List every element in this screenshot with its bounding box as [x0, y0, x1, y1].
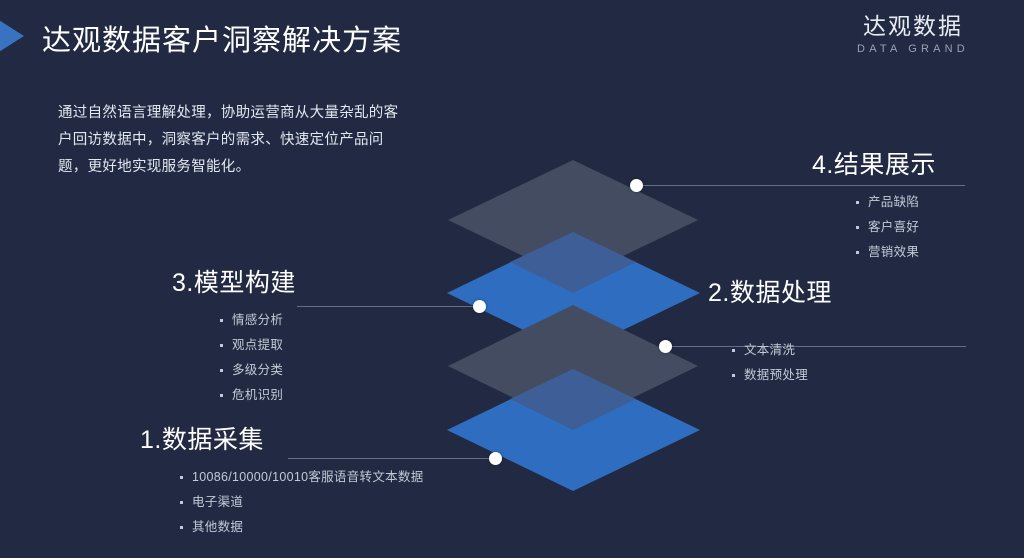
list-item: 电子渠道 — [180, 490, 424, 515]
list-item: 营销效果 — [856, 240, 936, 265]
connector-dot-step-2 — [659, 340, 672, 353]
list-item: 危机识别 — [220, 383, 296, 408]
diamond-layer-top-gray — [448, 160, 698, 280]
brand-name-cn: 达观数据 — [838, 14, 988, 39]
list-item: 客户喜好 — [856, 215, 936, 240]
step-bullet-list-4: 产品缺陷 客户喜好 营销效果 — [856, 190, 936, 265]
step-block-2[interactable]: 2.数据处理 文本清洗 数据预处理 — [708, 278, 832, 388]
step-title-2: 2.数据处理 — [708, 278, 832, 308]
diamond-overlap-shade-lower — [510, 369, 636, 430]
step-title-4: 4.结果展示 — [812, 150, 936, 180]
slide-canvas: 达观数据客户洞察解决方案 达观数据 DATA GRAND 通过自然语言理解处理，… — [0, 0, 1024, 558]
page-title: 达观数据客户洞察解决方案 — [42, 17, 402, 59]
diamond-overlap-shade-upper — [510, 232, 636, 293]
list-item: 10086/10000/10010客服语音转文本数据 — [180, 465, 424, 490]
diamond-layer-blue-upper — [447, 232, 700, 354]
step-title-1: 1.数据采集 — [140, 425, 424, 455]
step-block-3[interactable]: 3.模型构建 情感分析 观点提取 多级分类 危机识别 — [172, 268, 296, 408]
list-item: 产品缺陷 — [856, 190, 936, 215]
diamond-layer-blue-bottom — [447, 369, 700, 491]
list-item: 情感分析 — [220, 308, 296, 333]
connector-dot-step-3 — [473, 300, 486, 313]
list-item: 文本清洗 — [732, 338, 832, 363]
step-bullet-list-3: 情感分析 观点提取 多级分类 危机识别 — [220, 308, 296, 408]
connector-dot-step-1 — [489, 452, 502, 465]
list-item: 多级分类 — [220, 358, 296, 383]
intro-paragraph: 通过自然语言理解处理，协助运营商从大量杂乱的客户回访数据中，洞察客户的需求、快速… — [58, 100, 408, 181]
list-item: 观点提取 — [220, 333, 296, 358]
list-item: 其他数据 — [180, 515, 424, 540]
step-block-1[interactable]: 1.数据采集 10086/10000/10010客服语音转文本数据 电子渠道 其… — [140, 425, 424, 540]
connector-line-step-3 — [297, 306, 481, 307]
step-block-4[interactable]: 4.结果展示 产品缺陷 客户喜好 营销效果 — [812, 150, 936, 265]
list-item: 数据预处理 — [732, 363, 832, 388]
brand-logo: 达观数据 DATA GRAND — [838, 14, 988, 55]
connector-dot-step-4 — [630, 179, 643, 192]
diamond-layer-gray-lower — [448, 305, 698, 427]
step-bullet-list-2: 文本清洗 数据预处理 — [732, 338, 832, 388]
step-title-3: 3.模型构建 — [172, 268, 296, 298]
triangle-right-icon — [0, 17, 24, 55]
step-bullet-list-1: 10086/10000/10010客服语音转文本数据 电子渠道 其他数据 — [180, 465, 424, 540]
brand-name-en: DATA GRAND — [838, 43, 988, 55]
